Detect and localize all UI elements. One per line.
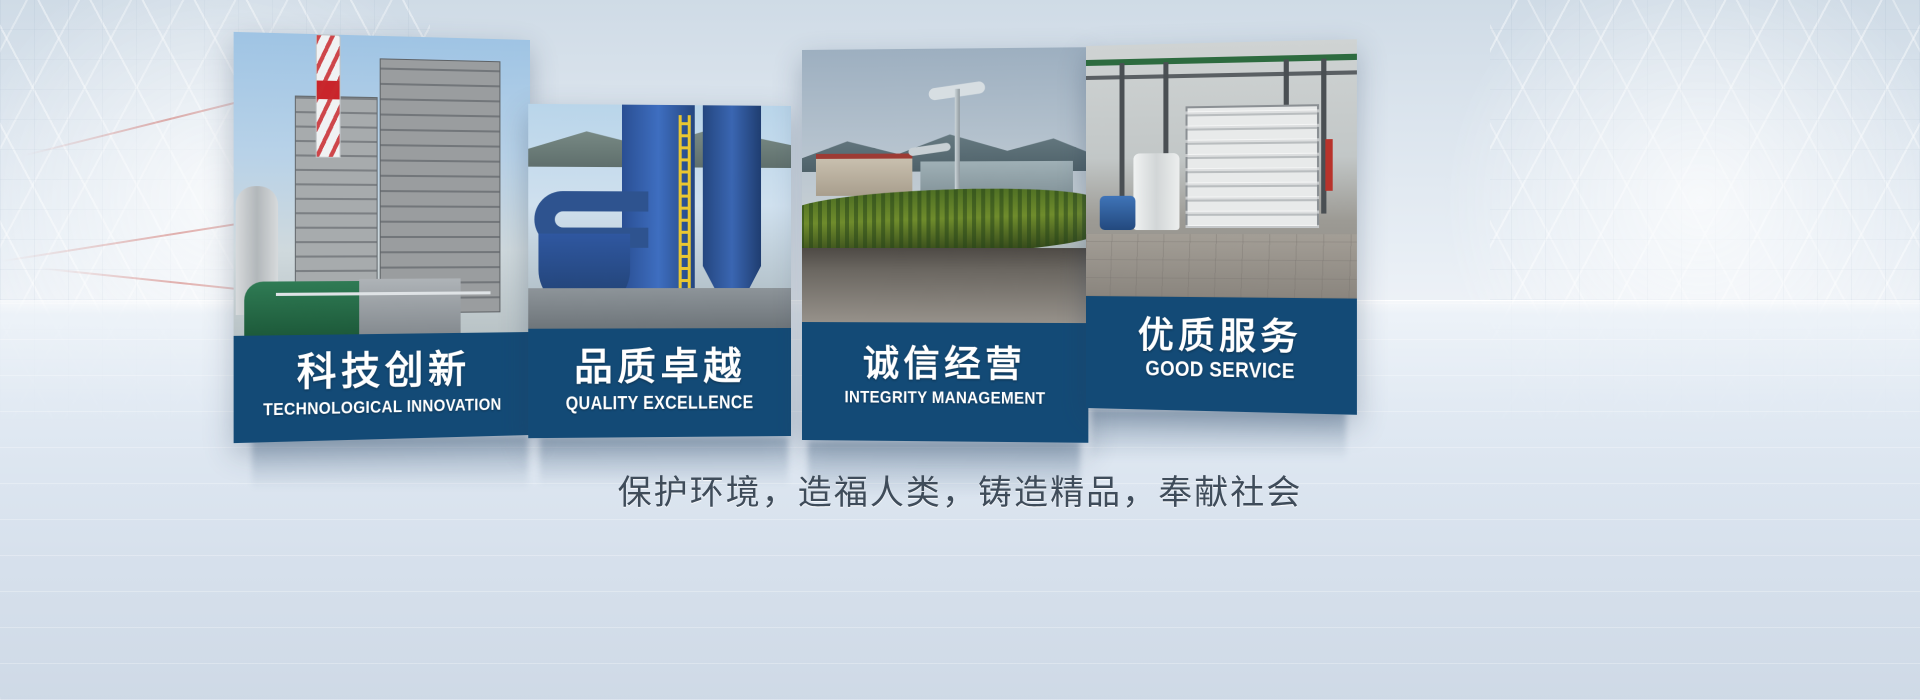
dosing-tank [1133, 153, 1179, 230]
vertical-pipe [1120, 63, 1125, 214]
hero-banner: 科技创新 TECHNOLOGICAL INNOVATION [0, 0, 1920, 700]
card-title-cn: 品质卓越 [574, 347, 746, 388]
card-title-en: INTEGRITY MANAGEMENT [844, 387, 1045, 409]
blue-pump [1100, 196, 1136, 230]
feature-card-group: 科技创新 TECHNOLOGICAL INNOVATION [0, 0, 1920, 700]
yellow-ladder [679, 115, 691, 306]
card-title-en: GOOD SERVICE [1145, 357, 1295, 384]
card-caption-quality-excellence: 品质卓越 QUALITY EXCELLENCE [528, 328, 791, 438]
card-title-cn: 优质服务 [1138, 317, 1302, 358]
paved-ground [802, 248, 1088, 323]
scene-wastewater-plant [802, 47, 1088, 323]
card-title-cn: 科技创新 [297, 350, 471, 394]
card-caption-technological-innovation: 科技创新 TECHNOLOGICAL INNOVATION [234, 332, 530, 443]
plant-building [816, 153, 912, 195]
tiled-floor [1086, 234, 1357, 299]
concrete-deck [528, 288, 791, 329]
card-reflection [1092, 409, 1346, 461]
card-photo-technological-innovation [234, 32, 530, 336]
feature-card-quality-excellence[interactable]: 品质卓越 QUALITY EXCELLENCE [528, 104, 791, 438]
grey-equipment-housing [359, 278, 460, 334]
card-photo-good-service [1086, 39, 1357, 298]
feature-card-integrity-management[interactable]: 诚信经营 INTEGRITY MANAGEMENT [802, 47, 1088, 443]
blue-cyclone-body [703, 105, 761, 266]
card-photo-integrity-management [802, 47, 1088, 323]
scene-ro-membrane-room [1086, 39, 1357, 298]
card-photo-quality-excellence [528, 104, 791, 329]
scene-blue-ducting [528, 104, 791, 329]
membrane-rack-highlights [1186, 104, 1320, 228]
card-title-cn: 诚信经营 [863, 345, 1026, 384]
card-title-en: TECHNOLOGICAL INNOVATION [264, 395, 502, 421]
card-caption-good-service: 优质服务 GOOD SERVICE [1086, 296, 1357, 415]
feature-card-good-service[interactable]: 优质服务 GOOD SERVICE [1086, 39, 1357, 415]
card-title-en: QUALITY EXCELLENCE [566, 392, 754, 414]
feature-card-technological-innovation[interactable]: 科技创新 TECHNOLOGICAL INNOVATION [234, 32, 530, 443]
red-valve-standpipe [1325, 139, 1332, 191]
banner-tagline: 保护环境，造福人类，铸造精品，奉献社会 [0, 465, 1920, 514]
red-white-chimney [316, 34, 341, 158]
card-caption-integrity-management: 诚信经营 INTEGRITY MANAGEMENT [802, 322, 1088, 443]
scaffolded-tower-right [380, 58, 501, 313]
scene-industrial-stack [234, 32, 530, 336]
